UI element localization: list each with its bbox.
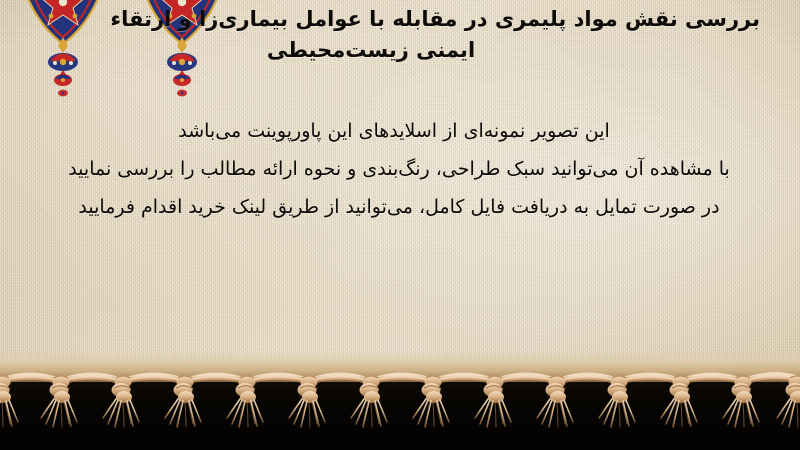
title-line-1: بررسی نقش مواد پلیمری در مقابله با عوامل… [34, 4, 778, 35]
carpet-fringe [0, 352, 800, 450]
carpet-fringe-icon [0, 352, 800, 450]
slide-canvas: بررسی نقش مواد پلیمری در مقابله با عوامل… [0, 0, 800, 450]
body-line-2: با مشاهده آن می‌توانید سبک طراحی، رنگ‌بن… [34, 150, 764, 188]
body-line-3: در صورت تمایل به دریافت فایل کامل، می‌تو… [34, 188, 764, 226]
title-line-2: ایمنی زیست‌محیطی [34, 35, 778, 66]
slide-body: این تصویر نمونه‌ای از اسلایدهای این پاور… [34, 112, 764, 226]
body-line-1: این تصویر نمونه‌ای از اسلایدهای این پاور… [34, 112, 764, 150]
slide-text-area: بررسی نقش مواد پلیمری در مقابله با عوامل… [0, 0, 800, 380]
slide-title: بررسی نقش مواد پلیمری در مقابله با عوامل… [34, 4, 778, 66]
